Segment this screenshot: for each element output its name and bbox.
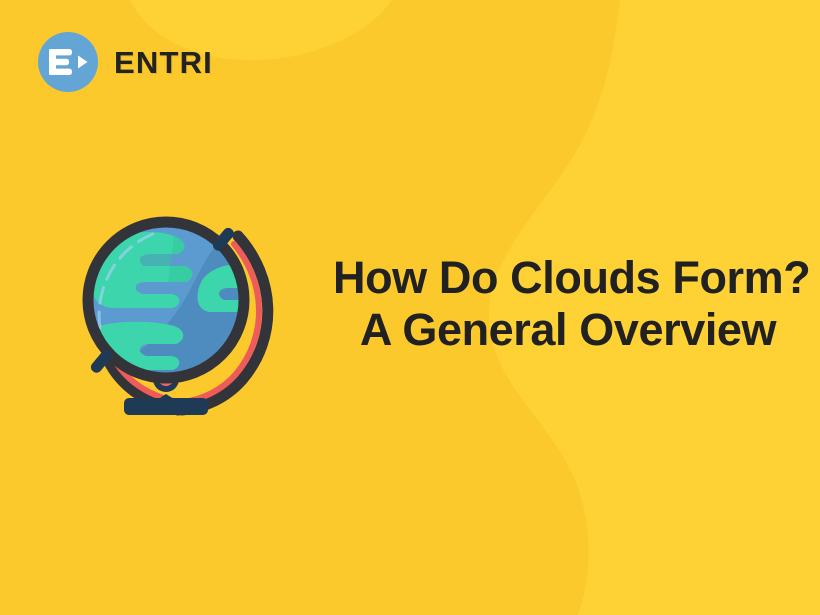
entri-logo-mark[interactable] xyxy=(38,32,98,92)
headline-line-1: How Do Clouds Form? xyxy=(333,252,803,304)
headline: How Do Clouds Form? A General Overview xyxy=(333,252,803,356)
desk-globe-illustration xyxy=(78,208,278,423)
brand-lockup[interactable]: ENTRI xyxy=(38,32,213,92)
headline-line-2: A General Overview xyxy=(333,304,803,356)
blog-title-card: ENTRI xyxy=(0,0,820,615)
entri-e-play-logo-icon xyxy=(47,46,89,78)
brand-name: ENTRI xyxy=(114,47,213,78)
